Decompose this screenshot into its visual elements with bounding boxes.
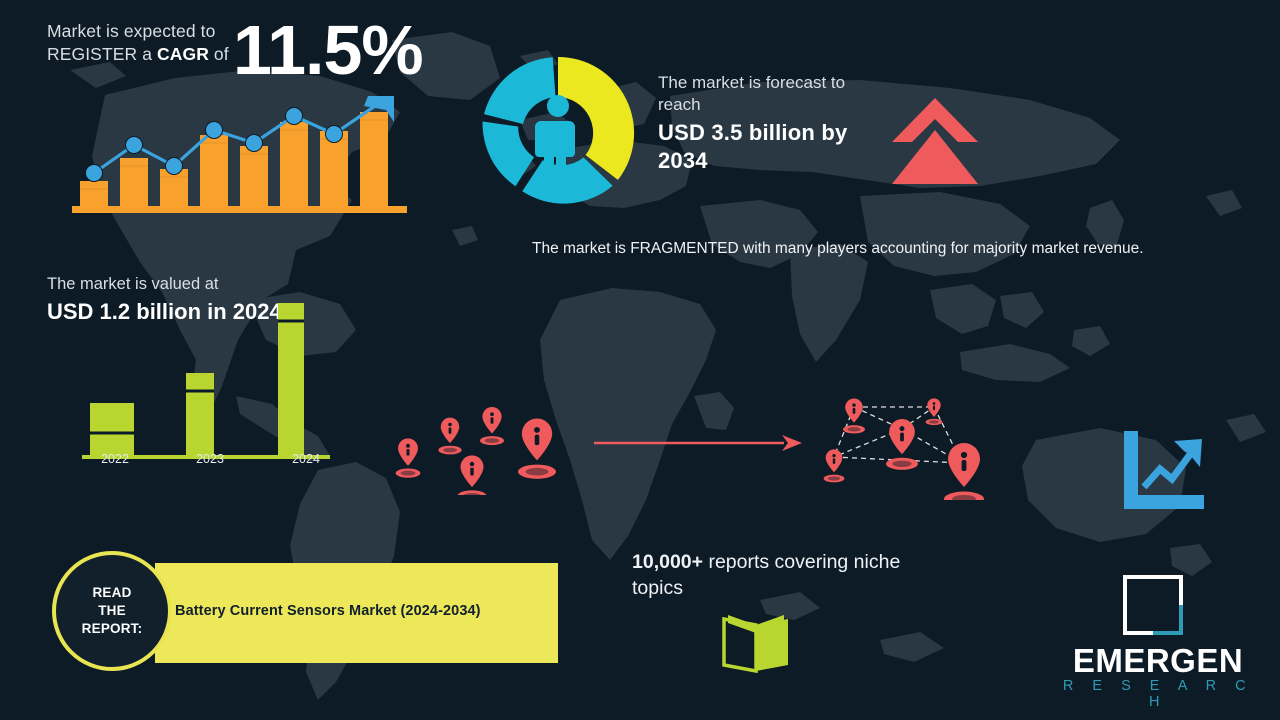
- up-chevrons-icon: [890, 96, 980, 186]
- cagr-value: 11.5%: [233, 12, 423, 88]
- donut-segment-yellow: [558, 57, 634, 180]
- forecast-block: The market is forecast to reach USD 3.5 …: [658, 72, 883, 175]
- scattered-location-pins-icon: [382, 385, 582, 495]
- location-pin: [458, 455, 487, 495]
- read-the-report-label: READ THE REPORT:: [82, 584, 143, 638]
- location-pin: [843, 399, 865, 434]
- cta-line3: REPORT:: [82, 621, 143, 636]
- historic-value-bar-chart: [82, 295, 342, 470]
- location-pin: [518, 419, 556, 479]
- cagr-caption-line1: Market is expected to: [47, 21, 215, 41]
- location-pin: [944, 443, 984, 500]
- cta-line1: READ: [92, 585, 131, 600]
- donut-segment-cyan-3: [484, 57, 556, 124]
- read-the-report-button[interactable]: READ THE REPORT:: [52, 551, 172, 671]
- cagr-caption-bold: CAGR: [157, 44, 209, 64]
- location-pin: [480, 407, 504, 445]
- donut-segment-cyan-2: [483, 122, 534, 187]
- green-chart-xlabel-2022: 2022: [85, 452, 145, 466]
- cagr-caption: Market is expected to REGISTER a CAGR of: [47, 20, 242, 66]
- green-chart-xlabel-2023: 2023: [180, 452, 240, 466]
- forecast-caption: The market is forecast to reach: [658, 72, 883, 116]
- market-value-caption: The market is valued at: [47, 273, 287, 295]
- location-pin: [824, 449, 845, 482]
- emergen-research-logo: EMERGEN R E S E A R C H: [1058, 572, 1258, 700]
- open-book-icon: [718, 613, 794, 675]
- report-cta-banner[interactable]: Battery Current Sensors Market (2024-203…: [155, 563, 558, 663]
- chart-baseline: [72, 206, 407, 213]
- report-title: Battery Current Sensors Market (2024-203…: [175, 603, 481, 619]
- growth-line: [1144, 449, 1194, 487]
- fragmented-market-note: The market is FRAGMENTED with many playe…: [532, 237, 1222, 260]
- green-chart-xlabel-2024: 2024: [276, 452, 336, 466]
- forecast-value: USD 3.5 billion by 2034: [658, 119, 883, 175]
- location-pin: [438, 418, 461, 455]
- cta-line2: THE: [98, 603, 126, 618]
- reports-count-value: 10,000+: [632, 551, 703, 573]
- market-growth-bar-chart: [72, 88, 407, 214]
- right-arrow-icon: [592, 428, 807, 458]
- cagr-block: Market is expected to REGISTER a CAGR of…: [47, 20, 467, 66]
- donut-person-chart-icon: [478, 53, 638, 213]
- reports-count-block: 10,000+ reports covering niche topics: [632, 549, 932, 601]
- logo-wordmark: EMERGEN: [1058, 642, 1258, 680]
- emergen-square-mark: [1120, 572, 1186, 638]
- location-pin: [886, 419, 918, 470]
- location-pin: [396, 438, 421, 477]
- cagr-caption-line2-post: of: [209, 44, 229, 64]
- cagr-caption-line2-pre: REGISTER a: [47, 44, 157, 64]
- growth-arrow-chart-icon: [1118, 427, 1210, 519]
- infographic-canvas: Market is expected to REGISTER a CAGR of…: [0, 0, 1280, 720]
- connected-location-pins-network-icon: [812, 385, 1012, 500]
- reports-count-text: 10,000+ reports covering niche topics: [632, 549, 932, 601]
- logo-subtitle: R E S E A R C H: [1058, 678, 1258, 710]
- orange-bars: [80, 112, 388, 206]
